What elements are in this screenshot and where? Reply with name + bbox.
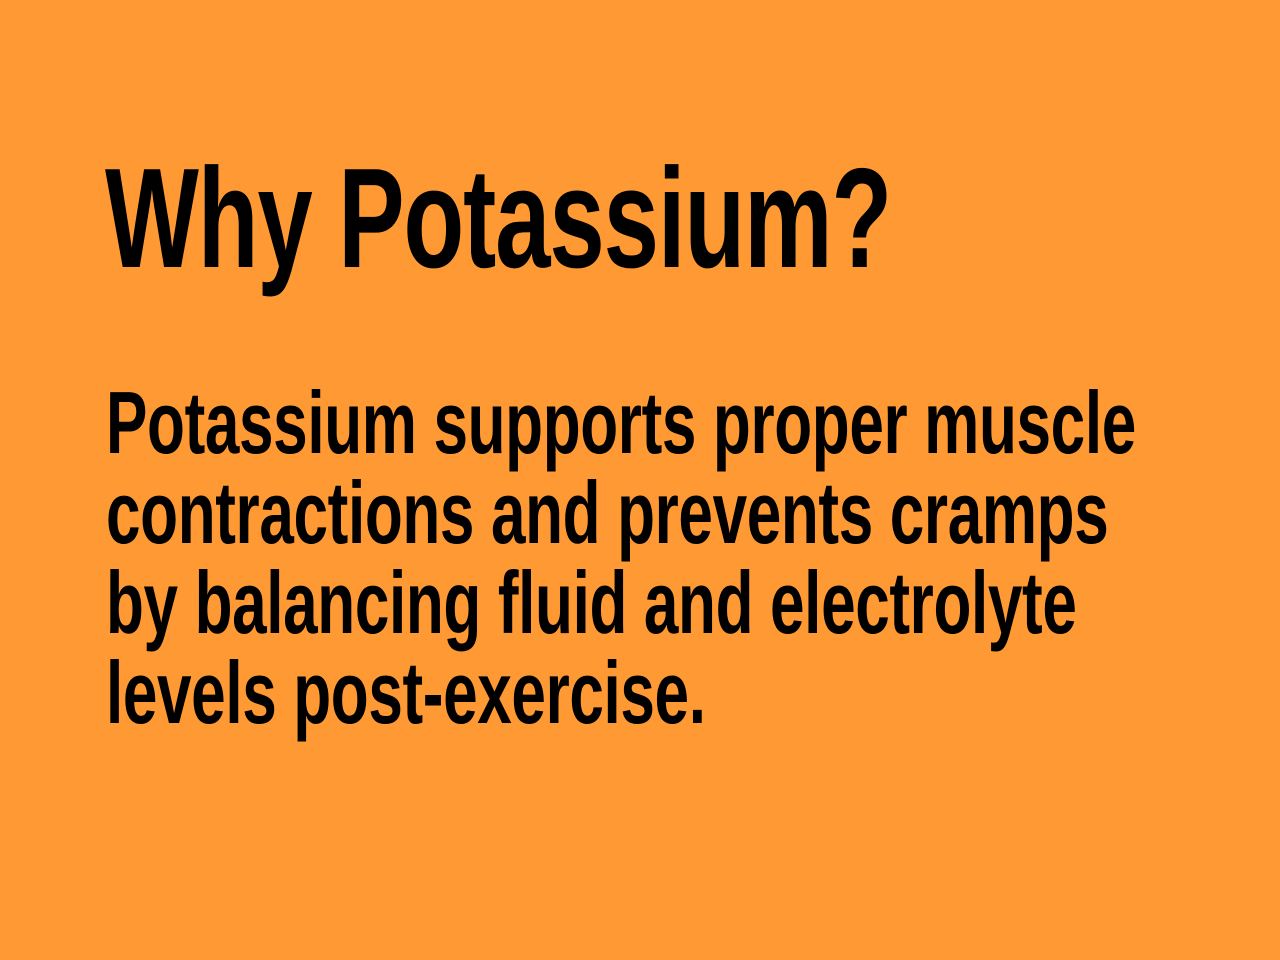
page-title: Why Potassium?: [105, 148, 861, 290]
slide-title-container: Why Potassium?: [105, 148, 1185, 298]
body-text-line-2: contractions and prevents cramps: [106, 468, 917, 558]
slide-body-container: Potassium supports proper muscle contrac…: [106, 378, 1256, 738]
body-text-line-1: Potassium supports proper muscle: [106, 378, 917, 468]
body-text-line-3: by balancing fluid and electrolyte: [106, 558, 917, 648]
body-text-line-4: levels post-exercise.: [106, 648, 917, 738]
slide-canvas: Why Potassium? Potassium supports proper…: [0, 0, 1280, 960]
